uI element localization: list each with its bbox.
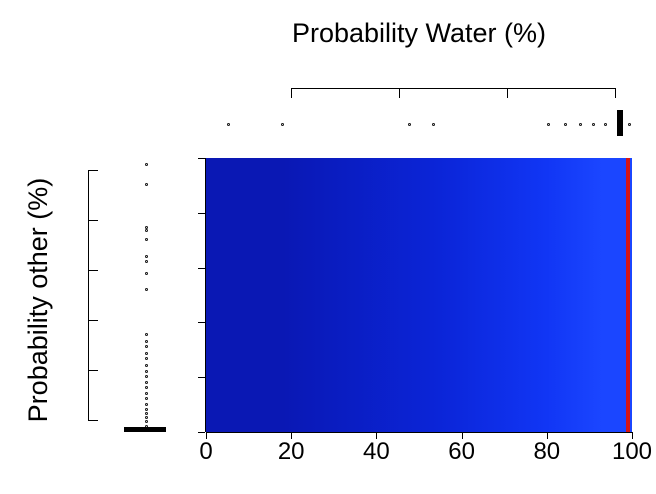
left-marginal-rug (132, 158, 160, 432)
y-axis-tick (198, 213, 205, 214)
top-bracket-tick (399, 88, 400, 98)
left-bracket-tick (88, 270, 98, 271)
rug-point (145, 403, 148, 406)
rug-point (145, 333, 148, 336)
rug-point (579, 123, 582, 126)
x-axis-tick (547, 432, 548, 439)
heatmap-surface (206, 158, 632, 432)
top-bracket-tick (507, 88, 508, 98)
top-marginal-rug (206, 110, 632, 138)
rug-point (145, 352, 148, 355)
x-axis-tick (376, 432, 377, 439)
rug-dense-band (124, 427, 166, 432)
rug-point (145, 260, 148, 263)
rug-point (145, 357, 148, 360)
rug-point (408, 123, 411, 126)
left-bracket-tick (88, 420, 98, 421)
rug-point (432, 123, 435, 126)
rug-point (145, 386, 148, 389)
rug-point (145, 238, 148, 241)
rug-point (145, 416, 148, 419)
rug-point (145, 370, 148, 373)
figure-canvas: Probability Water (%) Probability other … (0, 0, 656, 494)
rug-point (145, 163, 148, 166)
probability-marker-line (626, 158, 630, 432)
top-bracket-tick (291, 88, 292, 98)
rug-point (628, 123, 631, 126)
heatmap-panel[interactable] (206, 158, 632, 432)
y-axis-label: Probability other (%) (18, 155, 58, 445)
rug-point (564, 123, 567, 126)
rug-point (145, 183, 148, 186)
x-axis-tick (462, 432, 463, 439)
rug-point (281, 123, 284, 126)
rug-point (227, 123, 230, 126)
top-bracket-tick (615, 88, 616, 98)
x-axis-tick (291, 432, 292, 439)
rug-point (145, 272, 148, 275)
x-axis-tick (632, 432, 633, 439)
rug-point (145, 397, 148, 400)
left-bracket-tick (88, 220, 98, 221)
rug-point (592, 123, 595, 126)
x-axis-tick-label: 100 (612, 438, 652, 466)
rug-point (145, 288, 148, 291)
rug-point (145, 255, 148, 258)
rug-point (604, 123, 607, 126)
top-scale-bracket (291, 88, 616, 89)
x-axis-tick-label: 20 (278, 438, 305, 466)
left-scale-bracket (88, 170, 89, 421)
y-axis-line (205, 158, 206, 432)
y-axis-tick (198, 377, 205, 378)
rug-point (145, 375, 148, 378)
rug-point (145, 392, 148, 395)
rug-point (547, 123, 550, 126)
rug-point (145, 420, 148, 423)
y-axis-tick (198, 268, 205, 269)
rug-point (145, 381, 148, 384)
rug-dense-band (617, 110, 623, 136)
left-bracket-tick (88, 170, 98, 171)
x-axis-tick (206, 432, 207, 439)
x-axis-tick-label: 40 (363, 438, 390, 466)
y-axis-tick (198, 158, 205, 159)
rug-point (145, 364, 148, 367)
page-title: Probability Water (%) (206, 18, 632, 49)
x-axis-tick-label: 80 (533, 438, 560, 466)
x-axis-line (206, 432, 632, 433)
rug-point (145, 408, 148, 411)
rug-point (145, 229, 148, 232)
rug-point (145, 340, 148, 343)
x-axis-tick-label: 60 (448, 438, 475, 466)
left-bracket-tick (88, 320, 98, 321)
y-axis-tick (198, 432, 205, 433)
x-axis-tick-label: 0 (199, 438, 212, 466)
rug-point (145, 345, 148, 348)
left-bracket-tick (88, 370, 98, 371)
rug-point (145, 412, 148, 415)
y-axis-tick (198, 322, 205, 323)
